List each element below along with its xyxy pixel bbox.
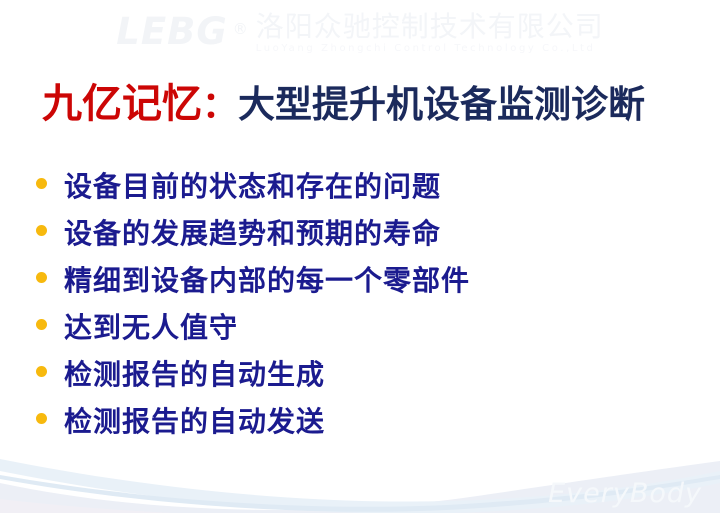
- company-name-chinese: 洛阳众驰控制技术有限公司: [256, 13, 604, 41]
- list-item: 达到无人值守: [36, 314, 696, 361]
- wave-shape-blue-accent: [0, 475, 720, 512]
- wave-shape-lavender: [0, 461, 720, 513]
- bullet-dot-icon: [36, 225, 47, 236]
- bullet-dot-icon: [36, 366, 47, 377]
- title-accent-text: 九亿记忆: [42, 81, 202, 127]
- lebg-logo: LEBG: [116, 13, 227, 50]
- footer-watermark-text: EveryBody: [548, 478, 702, 509]
- bullet-dot-icon: [36, 319, 47, 330]
- list-item: 设备的发展趋势和预期的寿命: [36, 220, 696, 267]
- list-item-label: 设备目前的状态和存在的问题: [64, 173, 441, 201]
- list-item-label: 检测报告的自动发送: [64, 408, 325, 436]
- bullet-dot-icon: [36, 178, 47, 189]
- registered-trademark-icon: ®: [233, 20, 248, 38]
- wave-shape-soft: [0, 499, 380, 513]
- list-item: 检测报告的自动生成: [36, 361, 696, 408]
- bullet-dot-icon: [36, 413, 47, 424]
- slide-title: 九亿记忆：大型提升机设备监测诊断: [42, 84, 645, 124]
- title-colon: ：: [202, 85, 238, 126]
- slide-canvas: LEBG ® 洛阳众驰控制技术有限公司 LuoYang Zhongchi Con…: [0, 0, 720, 513]
- list-item-label: 精细到设备内部的每一个零部件: [64, 267, 470, 295]
- list-item: 检测报告的自动发送: [36, 408, 696, 455]
- bullet-list: 设备目前的状态和存在的问题 设备的发展趋势和预期的寿命 精细到设备内部的每一个零…: [36, 173, 696, 455]
- list-item-label: 达到无人值守: [64, 314, 238, 342]
- list-item: 精细到设备内部的每一个零部件: [36, 267, 696, 314]
- title-main-text: 大型提升机设备监测诊断: [238, 82, 645, 126]
- company-name-english: LuoYang Zhongchi Control Technology Co.,…: [256, 44, 604, 54]
- footer-wave-decoration: [0, 453, 720, 513]
- wave-shape-blue: [0, 459, 720, 513]
- bullet-dot-icon: [36, 272, 47, 283]
- list-item-label: 检测报告的自动生成: [64, 361, 325, 389]
- list-item: 设备目前的状态和存在的问题: [36, 173, 696, 220]
- company-name-block: 洛阳众驰控制技术有限公司 LuoYang Zhongchi Control Te…: [256, 13, 604, 54]
- list-item-label: 设备的发展趋势和预期的寿命: [64, 220, 441, 248]
- header-watermark: LEBG ® 洛阳众驰控制技术有限公司 LuoYang Zhongchi Con…: [0, 0, 720, 66]
